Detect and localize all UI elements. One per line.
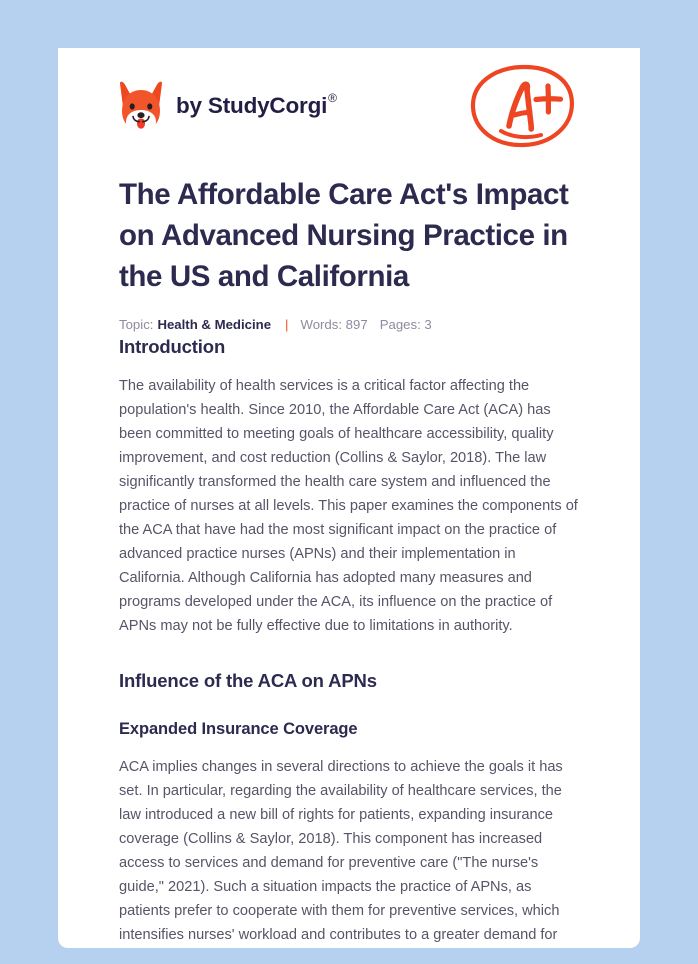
document-content-area: by StudyCorgi ®	[58, 48, 640, 948]
meta-separator: |	[285, 316, 288, 334]
brand-name-text: StudyCorgi	[208, 95, 327, 118]
document-meta: Topic: Health & Medicine | Words: 897 Pa…	[119, 316, 579, 334]
a-plus-grade-badge-icon	[467, 60, 579, 152]
meta-topic-value[interactable]: Health & Medicine	[157, 316, 271, 334]
registered-trademark-icon: ®	[328, 92, 337, 104]
corgi-logo-icon	[119, 80, 163, 132]
body-paragraph: ACA implies changes in several direction…	[119, 755, 579, 948]
meta-pages-count: Pages: 3	[380, 316, 432, 334]
document-header: by StudyCorgi ®	[119, 48, 579, 152]
document-page-sheet: by StudyCorgi ®	[58, 48, 640, 948]
studycorgi-brand[interactable]: by StudyCorgi ®	[119, 80, 336, 132]
meta-topic-label: Topic:	[119, 316, 153, 334]
section-heading: Expanded Insurance Coverage	[119, 717, 579, 741]
section-heading: Influence of the ACA on APNs	[119, 668, 579, 694]
page-title: The Affordable Care Act's Impact on Adva…	[119, 174, 579, 297]
section-heading: Introduction	[119, 334, 579, 360]
body-paragraph: The availability of health services is a…	[119, 374, 579, 638]
brand-by-text: by	[176, 95, 202, 118]
brand-wordmark: by StudyCorgi ®	[176, 95, 336, 118]
document-body: IntroductionThe availability of health s…	[119, 334, 579, 948]
meta-words-count: Words: 897	[300, 316, 367, 334]
